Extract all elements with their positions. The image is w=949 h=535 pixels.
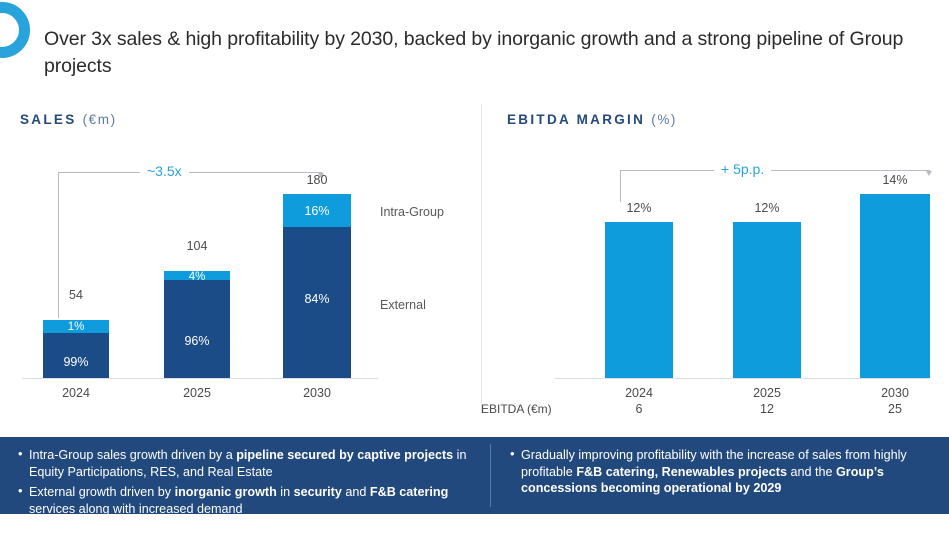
sales-segment-external-label-2025: 96%	[184, 334, 209, 348]
ebitda-row-value-2030: 25	[860, 402, 930, 416]
sales-bar-2030[interactable]: 180 16% 84%	[283, 194, 351, 378]
ebitda-plot-area: + 5p.p. 12% 2024 6 12% 2025 12 14% 203	[481, 100, 949, 430]
sales-x-tick-2024: 2024	[43, 386, 109, 400]
sales-plot-area: ~3.5x 54 1% 99% 2024 104 4%	[0, 100, 480, 430]
sales-growth-annotation: ~3.5x	[140, 163, 189, 179]
sales-bar-total-2025: 104	[164, 239, 230, 253]
sales-segment-external-2025: 96%	[164, 280, 230, 378]
page-title: Over 3x sales & high profitability by 20…	[44, 26, 949, 80]
ebitda-x-axis	[555, 378, 929, 379]
ebitda-x-tick-2025: 2025	[733, 386, 801, 400]
sales-segment-intra-2025: 4%	[164, 271, 230, 280]
ebitda-x-tick-2024: 2024	[605, 386, 673, 400]
sales-segment-intra-2030: 16%	[283, 194, 351, 227]
footer-left-column: Intra-Group sales growth driven by a pip…	[0, 437, 490, 514]
ebitda-growth-annotation: + 5p.p.	[714, 161, 771, 177]
footer-right-column: Gradually improving profitability with t…	[490, 437, 949, 514]
sales-x-axis	[22, 378, 378, 379]
ebitda-bar-value-2025: 12%	[733, 201, 801, 215]
ebitda-chart-panel: EBITDA MARGIN (%) + 5p.p. 12% 2024 6 12%	[481, 100, 949, 430]
sales-segment-external-2024: 99%	[43, 333, 109, 378]
ebitda-bar-value-2024: 12%	[605, 201, 673, 215]
sales-bar-2025[interactable]: 104 4% 96%	[164, 271, 230, 378]
ebitda-bar-2025[interactable]: 12%	[733, 222, 801, 378]
brand-logo-ring-icon	[0, 2, 30, 58]
ebitda-bar-fill-2025	[733, 222, 801, 378]
sales-legend-external: External	[380, 298, 426, 312]
sales-bar-total-2024: 54	[43, 288, 109, 302]
bottom-strip	[0, 514, 949, 535]
sales-segment-external-label-2030: 84%	[304, 292, 329, 306]
ebitda-x-tick-2030: 2030	[860, 386, 930, 400]
ebitda-bar-2030[interactable]: 14%	[860, 194, 930, 378]
sales-legend-intra-group: Intra-Group	[380, 205, 444, 219]
footer-bullet-left-1: External growth driven by inorganic grow…	[18, 484, 474, 517]
ebitda-row-label: EBITDA (€m)	[481, 402, 552, 416]
sales-x-tick-2025: 2025	[164, 386, 230, 400]
sales-segment-intra-label-2030: 16%	[304, 204, 329, 218]
sales-bar-2024[interactable]: 54 1% 99%	[43, 320, 109, 378]
footer-bullet-left-0: Intra-Group sales growth driven by a pip…	[18, 447, 474, 480]
ebitda-row-value-2024: 6	[605, 402, 673, 416]
slide-root: Over 3x sales & high profitability by 20…	[0, 0, 949, 535]
sales-segment-intra-label-2024: 1%	[68, 321, 85, 333]
ebitda-bar-fill-2030	[860, 194, 930, 378]
ebitda-bar-fill-2024	[605, 222, 673, 378]
ebitda-bracket-vertical-left	[620, 170, 621, 202]
sales-chart-panel: SALES (€m) ~3.5x 54 1% 99% 2024	[0, 100, 480, 430]
ebitda-row-value-2025: 12	[733, 402, 801, 416]
sales-segment-external-2030: 84%	[283, 227, 351, 378]
footer-band: Intra-Group sales growth driven by a pip…	[0, 437, 949, 514]
sales-segment-external-label-2024: 99%	[63, 355, 88, 369]
sales-bar-total-2030: 180	[283, 173, 351, 187]
sales-x-tick-2030: 2030	[283, 386, 351, 400]
footer-bullet-right-0: Gradually improving profitability with t…	[510, 447, 933, 497]
ebitda-bar-2024[interactable]: 12%	[605, 222, 673, 378]
sales-segment-intra-2024: 1%	[43, 320, 109, 333]
ebitda-bracket-horizontal	[620, 170, 930, 171]
ebitda-bar-value-2030: 14%	[860, 173, 930, 187]
